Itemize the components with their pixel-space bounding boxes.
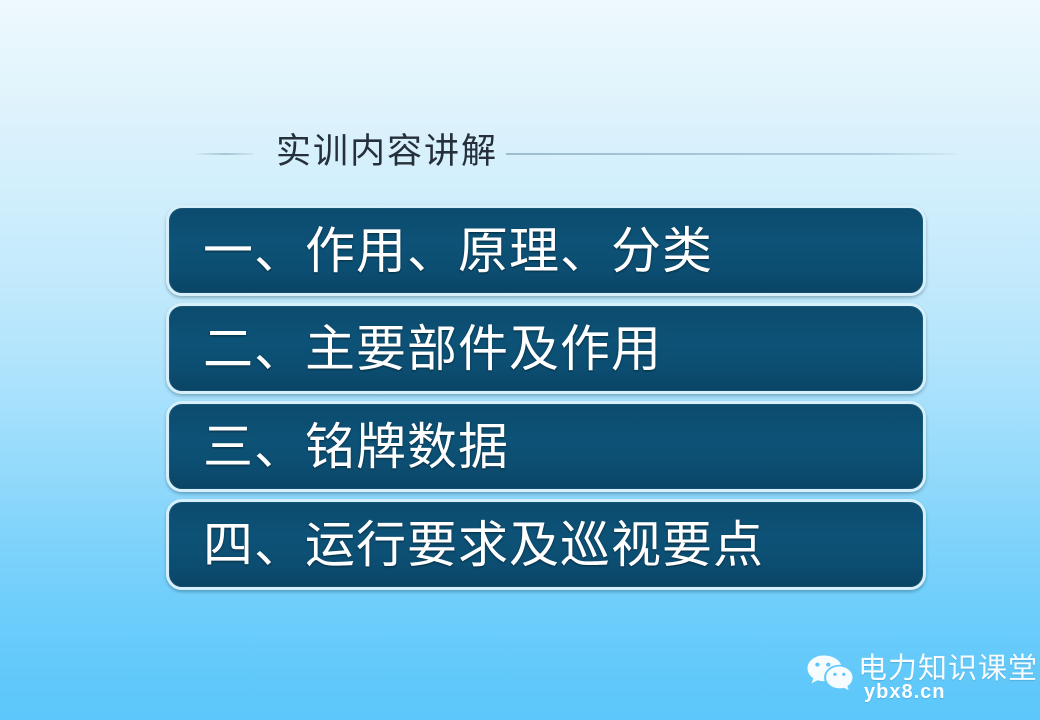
slide-heading: 实训内容讲解 bbox=[0, 128, 1040, 176]
watermark-url: ybx8.cn bbox=[864, 680, 945, 704]
agenda-item-3[interactable]: 三、铭牌数据 bbox=[166, 401, 926, 492]
heading-rule-right bbox=[506, 153, 958, 155]
wechat-icon bbox=[806, 654, 854, 692]
agenda-item-label: 一、作用、原理、分类 bbox=[203, 222, 713, 280]
slide-canvas: 实训内容讲解 一、作用、原理、分类 二、主要部件及作用 三、铭牌数据 四、运行要… bbox=[0, 0, 1040, 720]
watermark: 电力知识课堂 ybx8.cn bbox=[806, 652, 1032, 710]
agenda-item-4[interactable]: 四、运行要求及巡视要点 bbox=[166, 499, 926, 590]
page-title: 实训内容讲解 bbox=[276, 132, 498, 172]
heading-rule-left bbox=[196, 153, 254, 155]
agenda-item-label: 四、运行要求及巡视要点 bbox=[203, 516, 764, 574]
agenda-item-label: 三、铭牌数据 bbox=[203, 418, 509, 476]
agenda-list: 一、作用、原理、分类 二、主要部件及作用 三、铭牌数据 四、运行要求及巡视要点 bbox=[166, 205, 926, 597]
agenda-item-label: 二、主要部件及作用 bbox=[203, 320, 662, 378]
agenda-item-2[interactable]: 二、主要部件及作用 bbox=[166, 303, 926, 394]
agenda-item-1[interactable]: 一、作用、原理、分类 bbox=[166, 205, 926, 296]
